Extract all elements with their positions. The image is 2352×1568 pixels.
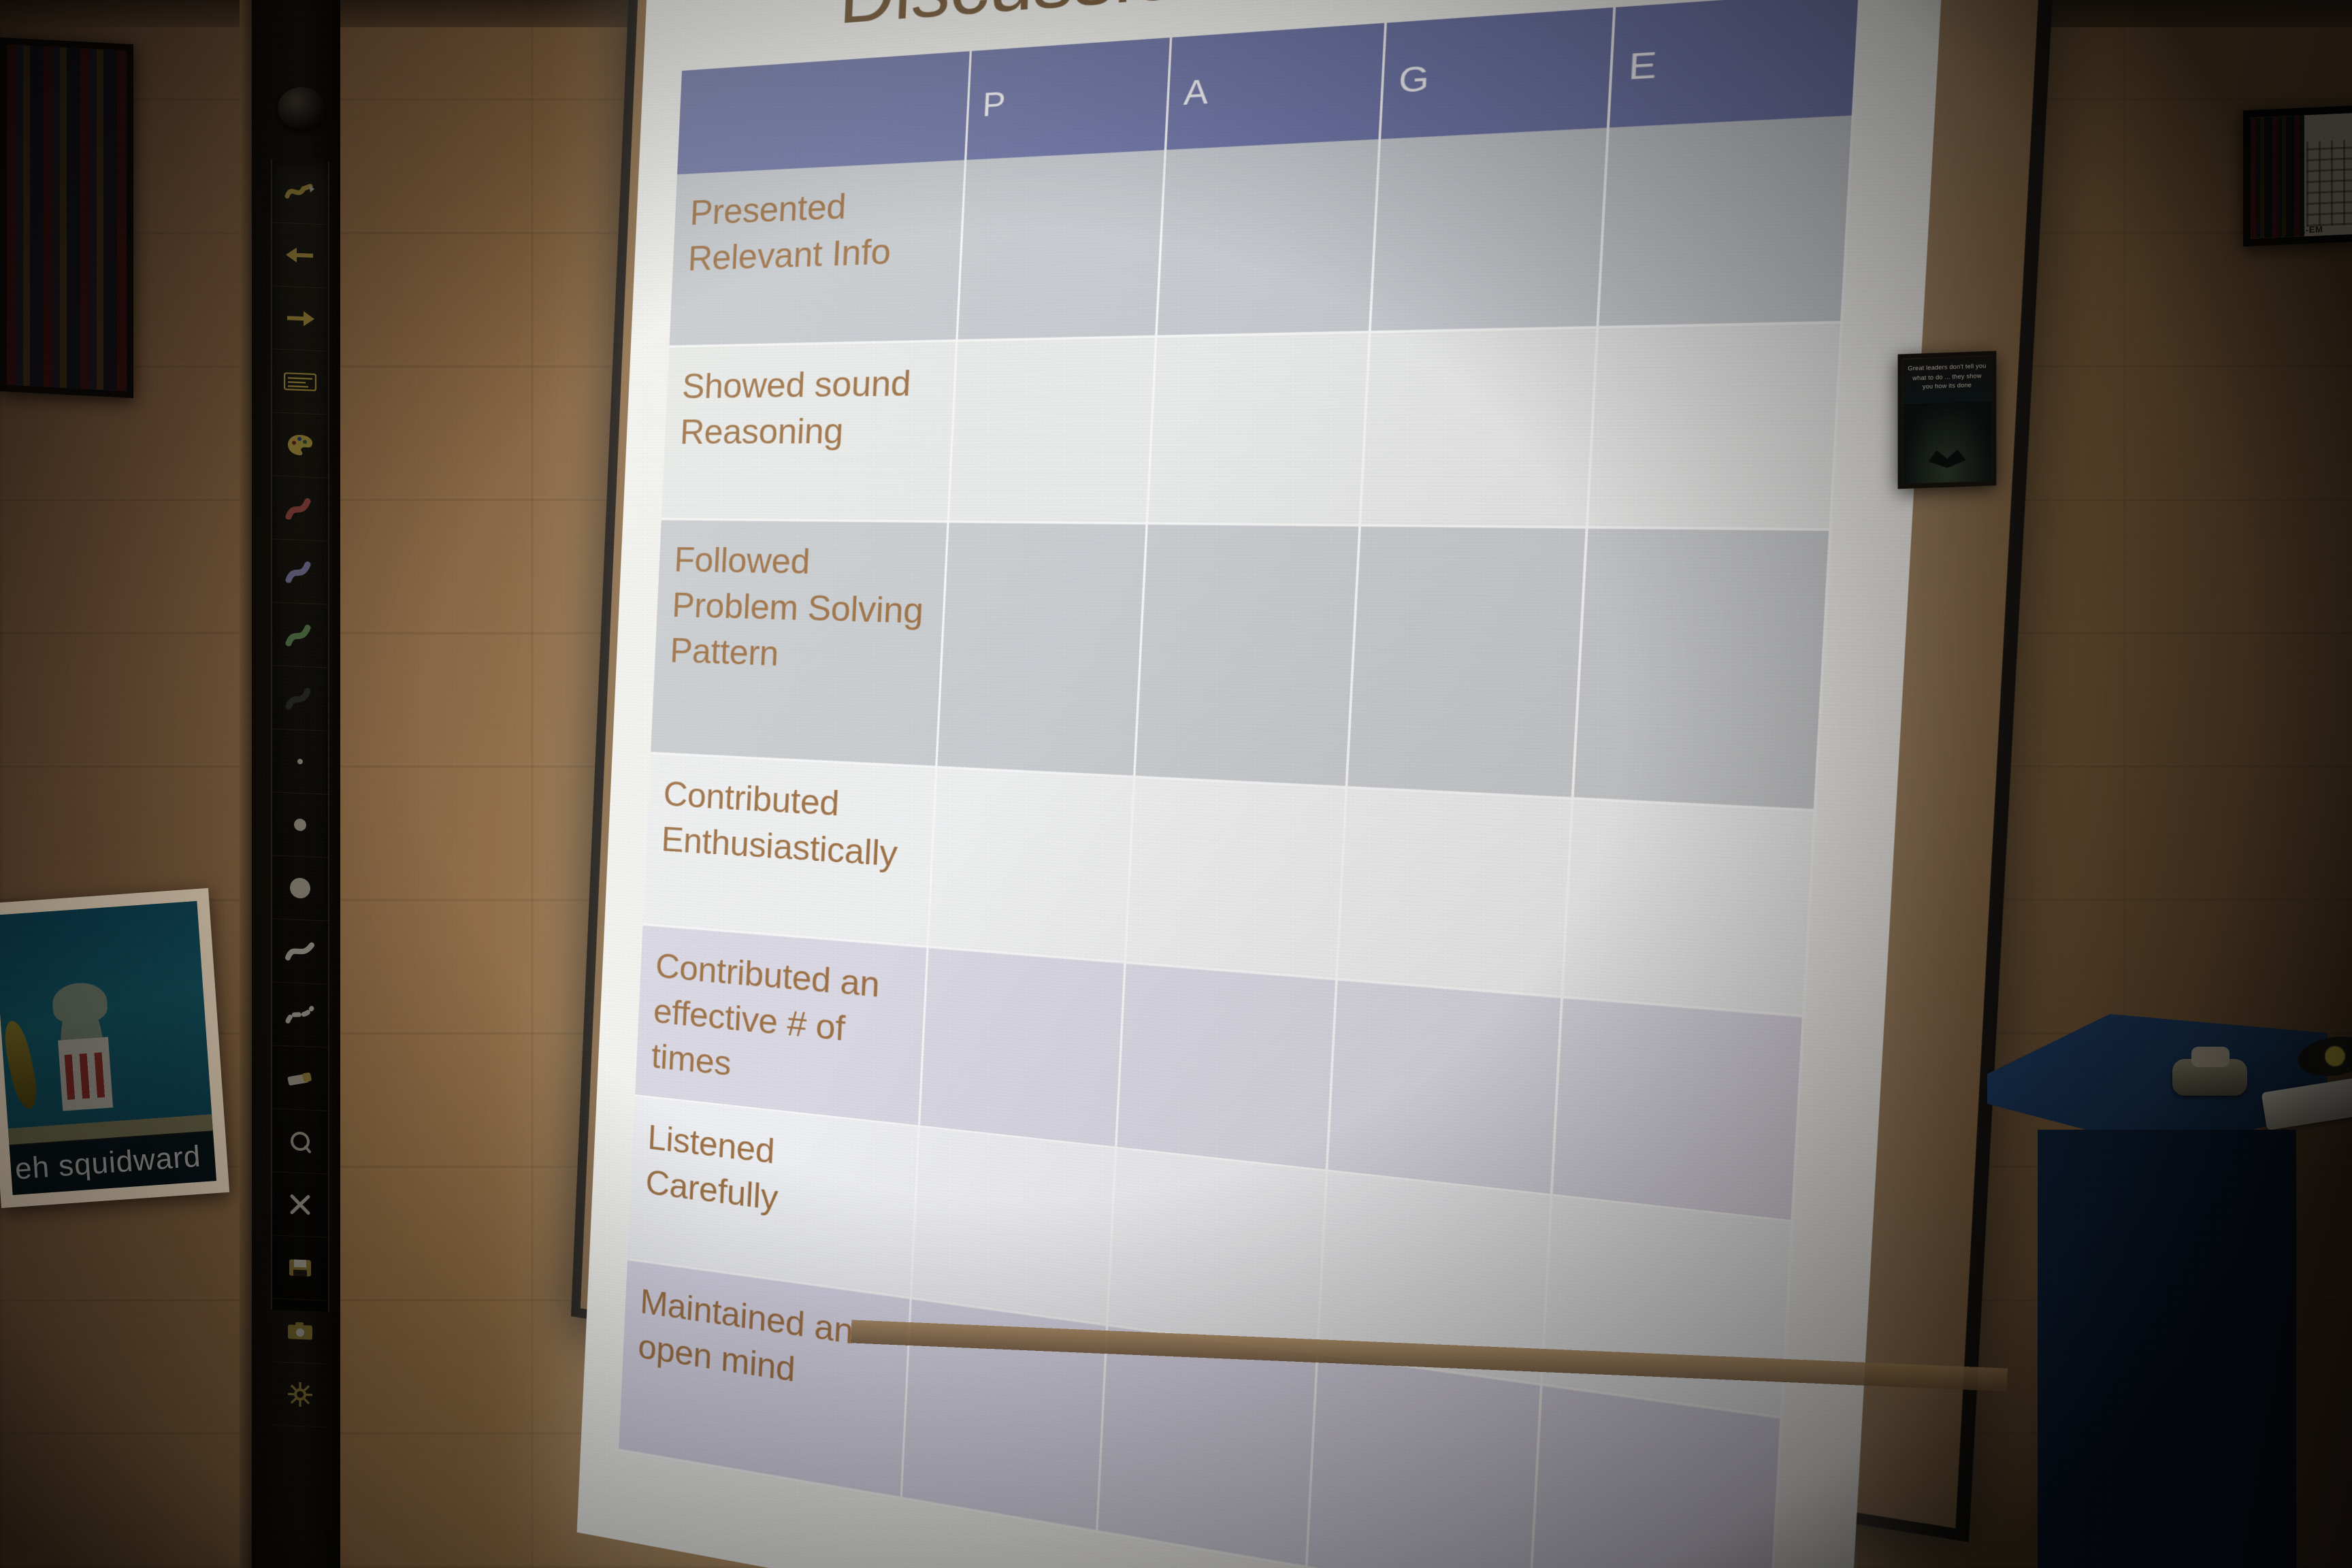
cell-e[interactable] — [1572, 527, 1830, 811]
column-header-a: A — [1166, 23, 1386, 150]
classroom-scene: eh squidward — [0, 0, 2352, 1568]
column-header-g: G — [1379, 7, 1614, 140]
projected-slide-area: Discussion Evaluation P A G E Presented … — [577, 0, 1950, 1568]
cell-a[interactable] — [1116, 962, 1336, 1171]
diagram-grid — [2306, 140, 2352, 227]
arrow-left-icon[interactable] — [272, 223, 328, 288]
camera-icon[interactable] — [272, 1298, 328, 1364]
cell-e[interactable] — [1597, 115, 1853, 327]
leadership-quote-poster: Great leaders don't tell you what to do … — [1898, 351, 1997, 489]
cell-e[interactable] — [1551, 997, 1803, 1221]
science-artwork: RE-EM — [2251, 112, 2352, 239]
cell-a[interactable] — [1147, 332, 1369, 525]
dot-small-icon[interactable] — [272, 729, 328, 794]
dashed-stroke-icon[interactable] — [272, 982, 328, 1047]
science-poster-caption: RE-EM — [2293, 224, 2323, 235]
column-header-criterion — [677, 51, 970, 174]
close-x-icon[interactable] — [272, 1172, 328, 1237]
squidward-head — [51, 981, 108, 1024]
squidward-artwork: eh squidward — [0, 901, 216, 1195]
cell-g[interactable] — [1346, 525, 1587, 798]
squidward-shirt-stripes — [65, 1052, 107, 1100]
eraser-handle — [2191, 1047, 2229, 1067]
dot-large-icon[interactable] — [272, 855, 328, 921]
bird-silhouette-icon — [1928, 449, 1965, 468]
pen-stroke-black-icon[interactable] — [272, 666, 328, 731]
row-label: Presented Relevant Info — [669, 160, 965, 346]
row-label: Followed Problem Solving Pattern — [651, 519, 948, 767]
plaid-artwork — [7, 44, 127, 391]
arrow-right-icon[interactable] — [272, 286, 328, 351]
powerpoint-slide: Discussion Evaluation P A G E Presented … — [577, 0, 1950, 1568]
leadership-photo — [1903, 401, 1992, 484]
pen-stroke-yellow-icon[interactable] — [272, 159, 328, 225]
cell-g[interactable] — [1369, 128, 1607, 332]
discussion-evaluation-table: P A G E Presented Relevant Info — [619, 0, 1861, 1568]
eraser-icon[interactable] — [272, 1045, 328, 1111]
mount-knob-icon — [278, 87, 325, 129]
cell-a[interactable] — [1134, 523, 1360, 787]
framed-plaid-poster — [0, 37, 133, 398]
column-header-p: P — [966, 37, 1171, 160]
row-label: Contributed Enthusiastically — [643, 753, 936, 947]
keyboard-icon[interactable] — [272, 349, 328, 414]
cell-g[interactable] — [1326, 979, 1562, 1195]
cell-a[interactable] — [1156, 139, 1379, 336]
save-icon[interactable] — [272, 1235, 328, 1301]
cell-g[interactable] — [1336, 787, 1572, 997]
cell-e[interactable] — [1586, 322, 1842, 529]
cell-p[interactable] — [936, 522, 1147, 777]
smartboard-tool-strip[interactable] — [271, 159, 329, 1311]
table-row: Showed sound Reasoning — [661, 322, 1842, 529]
lasso-select-icon[interactable] — [272, 1109, 328, 1174]
stroke-white-icon[interactable] — [272, 919, 328, 984]
row-label: Contributed an effective # of times — [635, 924, 928, 1126]
cell-a[interactable] — [1107, 1147, 1326, 1354]
cell-a[interactable] — [1097, 1325, 1317, 1567]
settings-icon[interactable] — [272, 1362, 328, 1427]
color-palette-icon[interactable] — [272, 412, 328, 478]
av-cart — [1987, 1014, 2352, 1568]
cell-a[interactable] — [1125, 777, 1345, 979]
cell-p[interactable] — [928, 767, 1134, 962]
row-label: Maintained an open mind — [619, 1259, 911, 1498]
cell-e[interactable] — [1529, 1384, 1781, 1568]
cell-p[interactable] — [919, 947, 1125, 1147]
cell-p[interactable] — [911, 1126, 1116, 1325]
cell-e[interactable] — [1541, 1195, 1793, 1418]
cell-p[interactable] — [948, 336, 1156, 523]
pen-stroke-red-icon[interactable] — [272, 476, 328, 541]
cell-g[interactable] — [1306, 1354, 1541, 1568]
pen-stroke-purple-icon[interactable] — [272, 539, 328, 604]
cart-body — [2038, 1130, 2296, 1568]
dot-medium-icon[interactable] — [272, 792, 328, 857]
leadership-quote-text: Great leaders don't tell you what to do … — [1907, 361, 1987, 392]
column-header-e: E — [1608, 0, 1860, 128]
row-label: Showed sound Reasoning — [661, 340, 957, 521]
plaid-overlay — [2251, 115, 2304, 238]
cell-p[interactable] — [957, 150, 1166, 340]
cell-g[interactable] — [1360, 327, 1597, 527]
pen-stroke-green-icon[interactable] — [272, 602, 328, 668]
cell-e[interactable] — [1562, 798, 1815, 1016]
science-poster: RE-EM — [2243, 105, 2352, 246]
squidward-meme-poster: eh squidward — [0, 888, 229, 1208]
leadership-artwork: Great leaders don't tell you what to do … — [1903, 356, 1992, 484]
seaweed-icon — [0, 1019, 42, 1111]
